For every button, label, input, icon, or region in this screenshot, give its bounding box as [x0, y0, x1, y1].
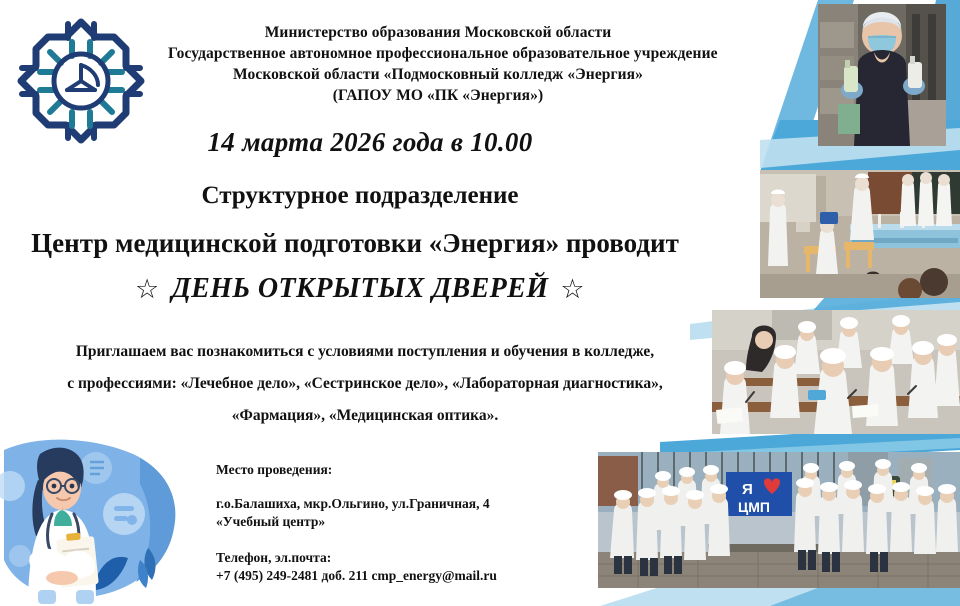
star-icon-left: ☆ — [135, 276, 160, 303]
star-icon-right: ☆ — [560, 276, 585, 303]
poster-canvas: Министерство образования Московской обла… — [0, 0, 960, 606]
venue-name: «Учебный центр» — [216, 513, 596, 531]
header-line-3: Московской области «Подмосковный колледж… — [168, 64, 708, 85]
contact-value[interactable]: +7 (495) 249-2481 доб. 211 cmp_energy@ma… — [216, 567, 596, 585]
open-day-heading: ☆ ДЕНЬ ОТКРЫТЫХ ДВЕРЕЙ ☆ — [30, 273, 690, 305]
event-date: 14 марта 2026 года в 10.00 — [40, 127, 700, 158]
invitation-line-1: Приглашаем вас познакомиться с условиями… — [20, 336, 710, 368]
contact-label: Телефон, эл.почта: — [216, 549, 596, 567]
photo-group-outdoor: Я ЦМП — [598, 452, 960, 588]
venue-address: г.о.Балашиха, мкр.Ольгино, ул.Граничная,… — [216, 495, 596, 513]
invitation-line-2: с профессиями: «Лечебное дело», «Сестрин… — [20, 368, 710, 400]
contact-details: Место проведения: г.о.Балашиха, мкр.Ольг… — [216, 461, 596, 585]
header-line-4: (ГАПОУ МО «ПК «Энергия») — [168, 85, 708, 106]
header-line-2: Государственное автономное профессиональ… — [168, 43, 708, 64]
svg-text:Я: Я — [742, 481, 753, 498]
center-heading: Центр медицинской подготовки «Энергия» п… — [10, 228, 700, 259]
institution-header: Министерство образования Московской обла… — [168, 22, 708, 106]
header-line-1: Министерство образования Московской обла… — [168, 22, 708, 43]
open-day-title: ДЕНЬ ОТКРЫТЫХ ДВЕРЕЙ — [172, 273, 549, 305]
photo-lab-worker — [818, 4, 946, 146]
spacer-b — [216, 531, 596, 549]
venue-label: Место проведения: — [216, 461, 596, 479]
svg-text:ЦМП: ЦМП — [738, 499, 770, 515]
doctor-illustration — [0, 428, 196, 606]
subdivision-heading: Структурное подразделение — [30, 182, 690, 210]
invitation-paragraph: Приглашаем вас познакомиться с условиями… — [20, 336, 710, 432]
photo-first-aid-class — [760, 170, 960, 298]
spacer-a — [216, 479, 596, 495]
photo-classroom — [712, 310, 960, 434]
